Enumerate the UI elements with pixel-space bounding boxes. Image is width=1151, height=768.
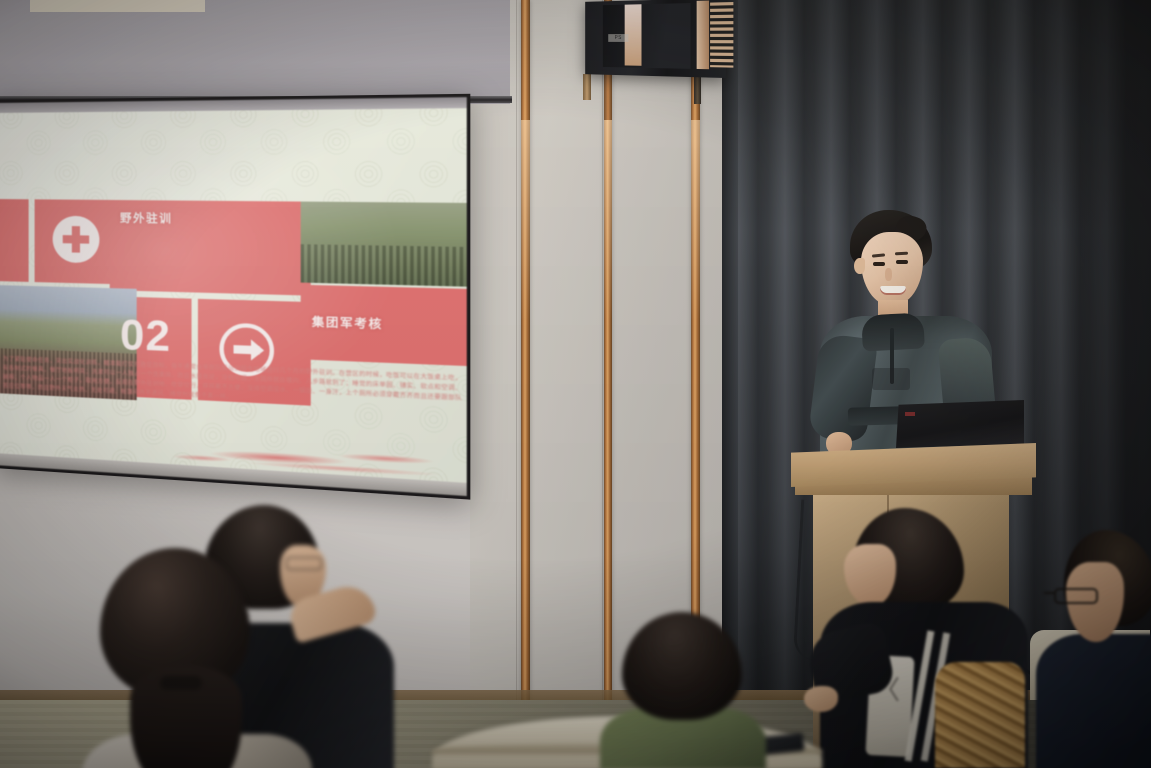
wall-mounted-speaker: PS xyxy=(569,0,735,84)
presentation-slide: 野外驻训 集团军考核 02 为了紧贴使命任务，突出实战化训练，瞄准能打仗打胜仗目… xyxy=(0,97,467,496)
slide-label-group-army-assessment: 集团军考核 xyxy=(312,313,383,333)
slide-body-paragraph: 为了紧贴使命任务，突出实战化训练，瞄准能打仗打胜仗目标，每年通常会带部队机动到陌… xyxy=(3,355,462,414)
audience-man-glasses-right xyxy=(1040,530,1151,768)
presenter-eye-left xyxy=(873,262,885,266)
slide-section-number: 02 xyxy=(120,313,181,359)
presenter-chest-pocket xyxy=(872,368,910,390)
slide-photo-training-ground xyxy=(301,202,467,287)
ceiling-soffit xyxy=(30,0,205,12)
speaker-badge: PS xyxy=(608,34,628,42)
speaker-bracket-right xyxy=(694,74,701,104)
wall-above-screen xyxy=(0,0,510,104)
slide-tile-accent-left xyxy=(0,199,29,282)
audience-glasses-body xyxy=(1036,634,1151,768)
audience-center-hair xyxy=(622,612,742,720)
slide-label-field-training: 野外驻训 xyxy=(120,209,172,226)
presenter-ear xyxy=(854,258,865,274)
presenter-mouth xyxy=(880,286,906,295)
presenter-eye-right xyxy=(896,260,908,264)
laptop-logo xyxy=(905,412,915,416)
audience-woman-ponytail xyxy=(42,548,312,768)
speaker-bracket-left xyxy=(583,74,591,100)
laptop-on-podium xyxy=(896,400,1024,448)
wicker-chair-right xyxy=(935,662,1025,768)
copper-trim-strip xyxy=(521,0,530,768)
speaker-side-panel xyxy=(697,1,709,70)
eyeglasses-icon xyxy=(1054,588,1098,604)
audience-track-hand xyxy=(804,686,838,712)
speaker-grille xyxy=(710,2,733,68)
presenter-nose xyxy=(885,268,892,281)
lecture-hall-photo: 野外驻训 集团军考核 02 为了紧贴使命任务，突出实战化训练，瞄准能打仗打胜仗目… xyxy=(0,0,1151,768)
audience-woman-hair-tie xyxy=(160,676,202,690)
audience-center-olive xyxy=(592,612,772,768)
projection-screen: 野外驻训 集团军考核 02 为了紧贴使命任务，突出实战化训练，瞄准能打仗打胜仗目… xyxy=(0,94,470,500)
plus-icon xyxy=(53,216,100,264)
